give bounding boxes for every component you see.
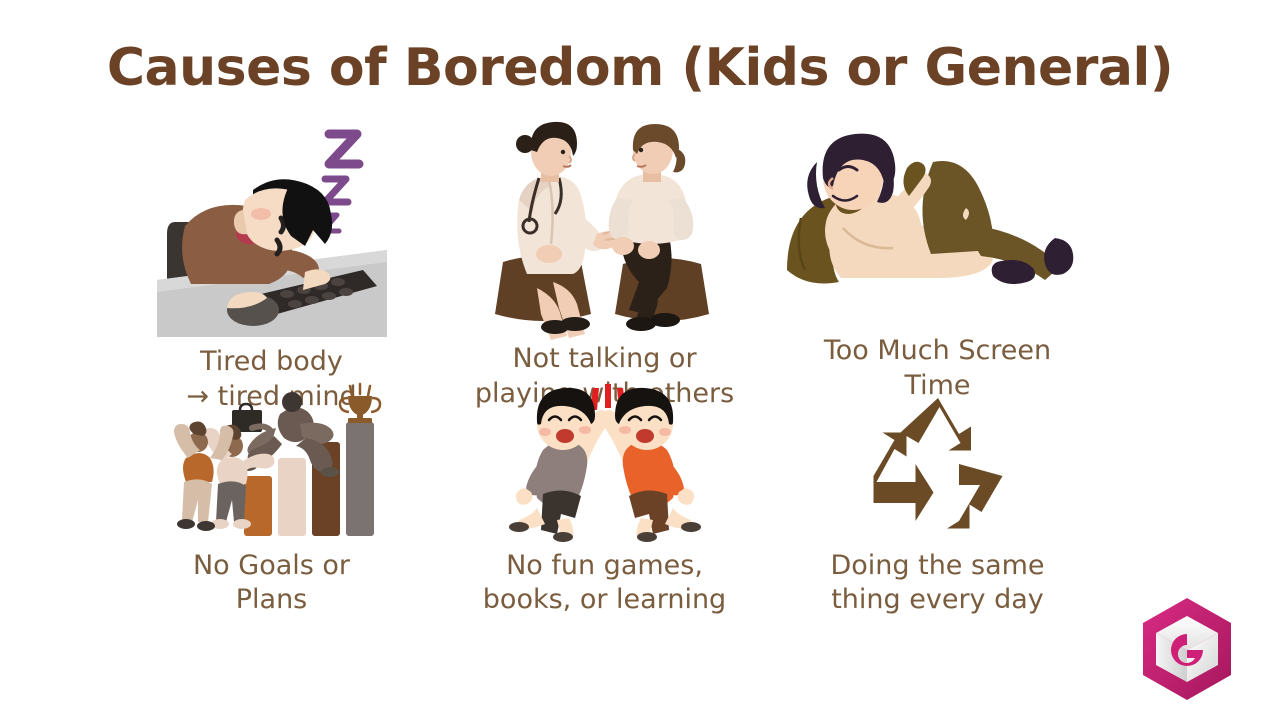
slide-canvas: Causes of Boredom (Kids or General) <box>0 0 1280 720</box>
card-screen-time[interactable]: Too Much Screen Time <box>771 122 1104 370</box>
eye <box>561 150 565 154</box>
people-climbing-bar-chart-to-trophy-icon <box>164 384 379 539</box>
caption-line-2: thing every day <box>788 583 1088 618</box>
causes-grid: Tired body → tired mind <box>105 122 1105 717</box>
illustration-climbing-to-trophy <box>105 370 438 539</box>
card-caption: No Goals or Plans <box>122 549 422 618</box>
caption-line-1: Too Much Screen <box>788 334 1088 369</box>
hand <box>638 241 660 259</box>
page-title: Causes of Boredom (Kids or General) <box>0 40 1280 97</box>
person-asleep-at-desk-icon <box>157 122 387 337</box>
kid-right <box>602 388 701 542</box>
illustration-person-with-phone <box>771 122 1104 326</box>
card-not-talking[interactable]: Not talking or playing with others <box>438 122 771 370</box>
trophy-base <box>348 418 372 423</box>
shoe <box>553 532 573 542</box>
two-people-talking-on-stools-icon <box>497 122 712 334</box>
recycle-arrow-right <box>947 464 1003 529</box>
hair <box>189 421 206 435</box>
blush <box>539 428 551 436</box>
shoe <box>650 313 680 327</box>
card-tired-body[interactable]: Tired body → tired mind <box>105 122 438 370</box>
illustration-recycling-loop <box>771 370 1104 539</box>
eye <box>639 148 643 152</box>
recycling-loop-icon <box>863 389 1013 539</box>
blush <box>579 426 591 434</box>
mouth <box>556 429 574 443</box>
card-caption: No fun games, books, or learning <box>455 549 755 618</box>
pants <box>216 481 246 522</box>
mouth <box>636 429 654 443</box>
shoe <box>1044 238 1073 275</box>
shoe <box>681 522 701 532</box>
shoe <box>509 522 529 532</box>
shoe <box>197 521 215 531</box>
caption-line-1: Doing the same <box>788 549 1088 584</box>
eye <box>277 240 280 254</box>
kid-left <box>509 388 608 542</box>
person-lying-down-with-phone-icon <box>783 122 1093 302</box>
caption-line-2: books, or learning <box>455 583 755 618</box>
illustration-person-asleep-at-desk <box>105 122 438 337</box>
recycle-arrow-top <box>900 398 971 451</box>
bar-2 <box>278 458 306 536</box>
card-same-thing-every-day[interactable]: Doing the same thing every day <box>771 370 1104 618</box>
pants <box>182 479 212 522</box>
g-hexagon-cube-logo: G <box>1132 594 1242 704</box>
bar-4 <box>346 422 374 536</box>
arm <box>242 454 274 472</box>
head <box>282 392 302 412</box>
recycle-arrow-left <box>873 432 933 521</box>
caption-line-2: Plans <box>122 583 422 618</box>
caption-line-1: No Goals or <box>122 549 422 584</box>
hand <box>612 237 634 255</box>
hand <box>536 245 562 263</box>
eye <box>281 218 284 232</box>
illustration-kids-high-five <box>438 370 771 539</box>
caption-line-1: No fun games, <box>455 549 755 584</box>
trophy-icon <box>340 384 380 423</box>
blush <box>619 426 631 434</box>
two-kids-high-fiving-icon <box>505 384 705 539</box>
person-patient <box>609 124 709 331</box>
brand-logo[interactable]: G <box>1132 594 1242 704</box>
shoe <box>541 320 569 334</box>
shoe <box>637 532 657 542</box>
hair-bun <box>516 135 534 153</box>
card-no-goals[interactable]: No Goals or Plans <box>105 370 438 618</box>
card-caption: Doing the same thing every day <box>788 549 1088 618</box>
illustration-two-people-talking <box>438 122 771 334</box>
blush <box>659 428 671 436</box>
shoe <box>321 467 339 477</box>
person-doctor <box>495 122 618 340</box>
shoe <box>233 519 251 529</box>
shoe <box>177 519 195 529</box>
card-no-fun-games[interactable]: No fun games, books, or learning <box>438 370 771 618</box>
trophy-cup <box>348 396 372 416</box>
blush <box>251 208 271 220</box>
